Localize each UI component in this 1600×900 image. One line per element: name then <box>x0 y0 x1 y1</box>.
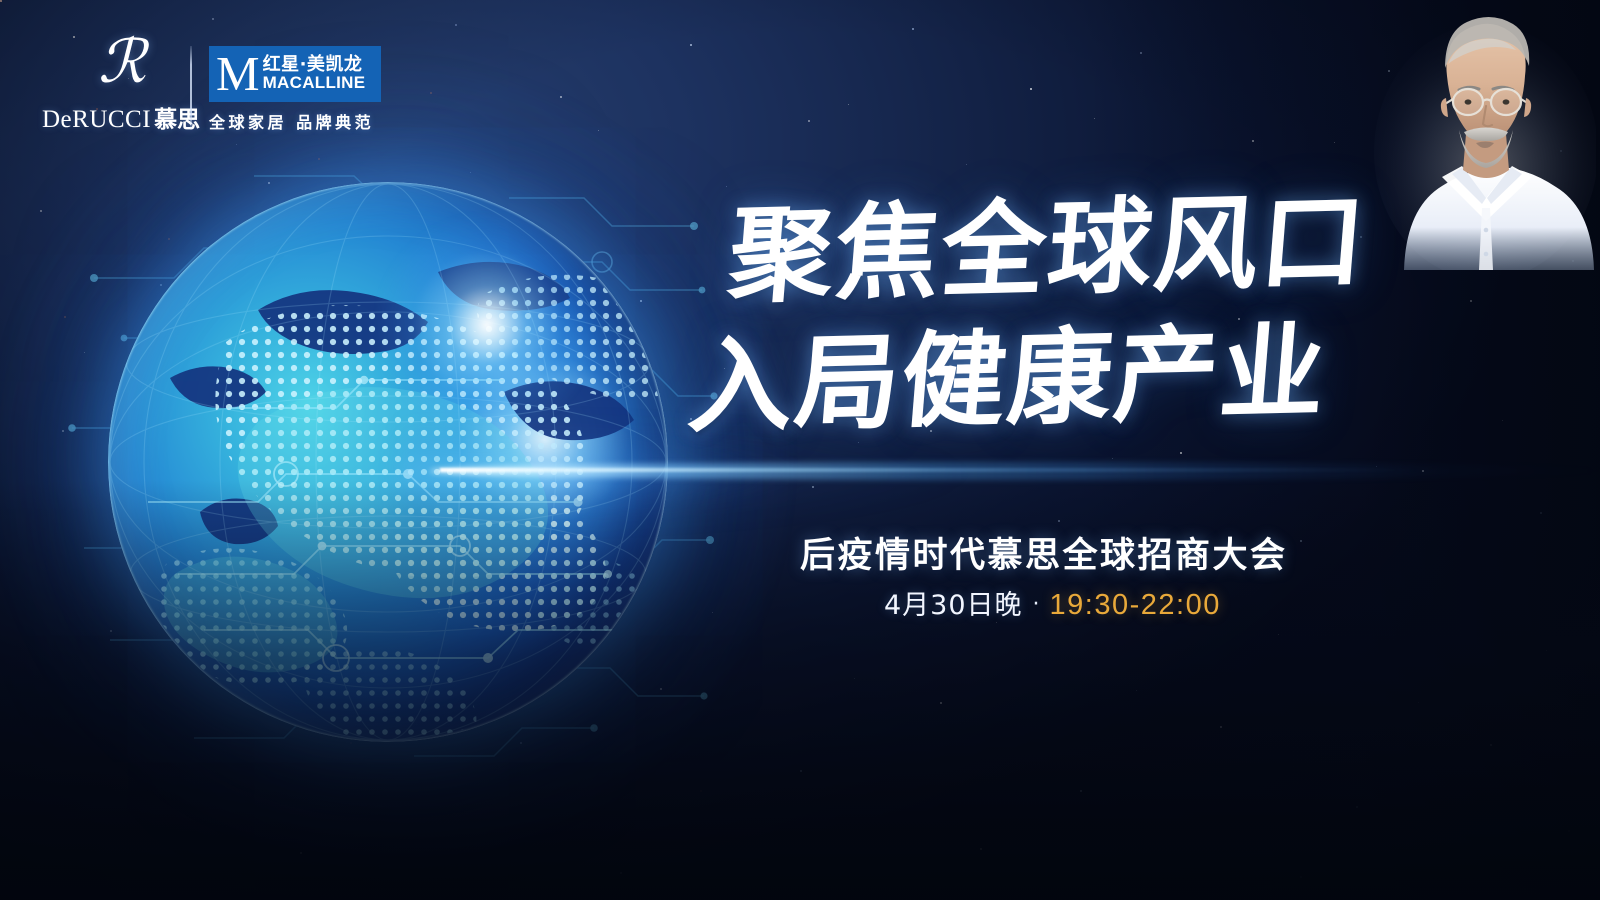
event-date: 4月30日晚 <box>884 583 1023 622</box>
portrait-illustration <box>1364 2 1596 270</box>
datetime-separator: · <box>1033 592 1040 617</box>
macalline-name-cn: 红星·美凯龙 <box>263 55 366 74</box>
derucci-monogram-icon: ℛ <box>42 32 192 92</box>
macalline-name-en: MACALLINE <box>263 74 366 93</box>
event-time: 19:30-22:00 <box>1050 589 1221 622</box>
derucci-wordmark-en: DeRUCCI <box>42 106 151 133</box>
logo-bar: ℛ DeRUCCI慕思 M 红星·美凯龙 MACALLINE 全球家居 品牌典范 <box>0 0 420 160</box>
event-datetime: 4月30日晚 · 19:30-22:00 <box>884 583 1221 622</box>
logo-divider <box>190 46 192 130</box>
macalline-tagline: 全球家居 品牌典范 <box>209 109 389 133</box>
macalline-logo-box: M 红星·美凯龙 MACALLINE <box>209 46 381 102</box>
brand-ambassador-portrait <box>1364 2 1596 270</box>
macalline-m-letter: M <box>216 52 258 96</box>
event-subtitle: 后疫情时代慕思全球招商大会 <box>800 527 1420 578</box>
promotional-banner: ℛ DeRUCCI慕思 M 红星·美凯龙 MACALLINE 全球家居 品牌典范… <box>0 0 1600 900</box>
derucci-wordmark: DeRUCCI慕思 <box>42 100 192 134</box>
derucci-wordmark-cn: 慕思 <box>154 107 200 133</box>
derucci-logo: ℛ DeRUCCI慕思 <box>42 32 192 134</box>
macalline-logo: M 红星·美凯龙 MACALLINE 全球家居 品牌典范 <box>209 46 389 133</box>
